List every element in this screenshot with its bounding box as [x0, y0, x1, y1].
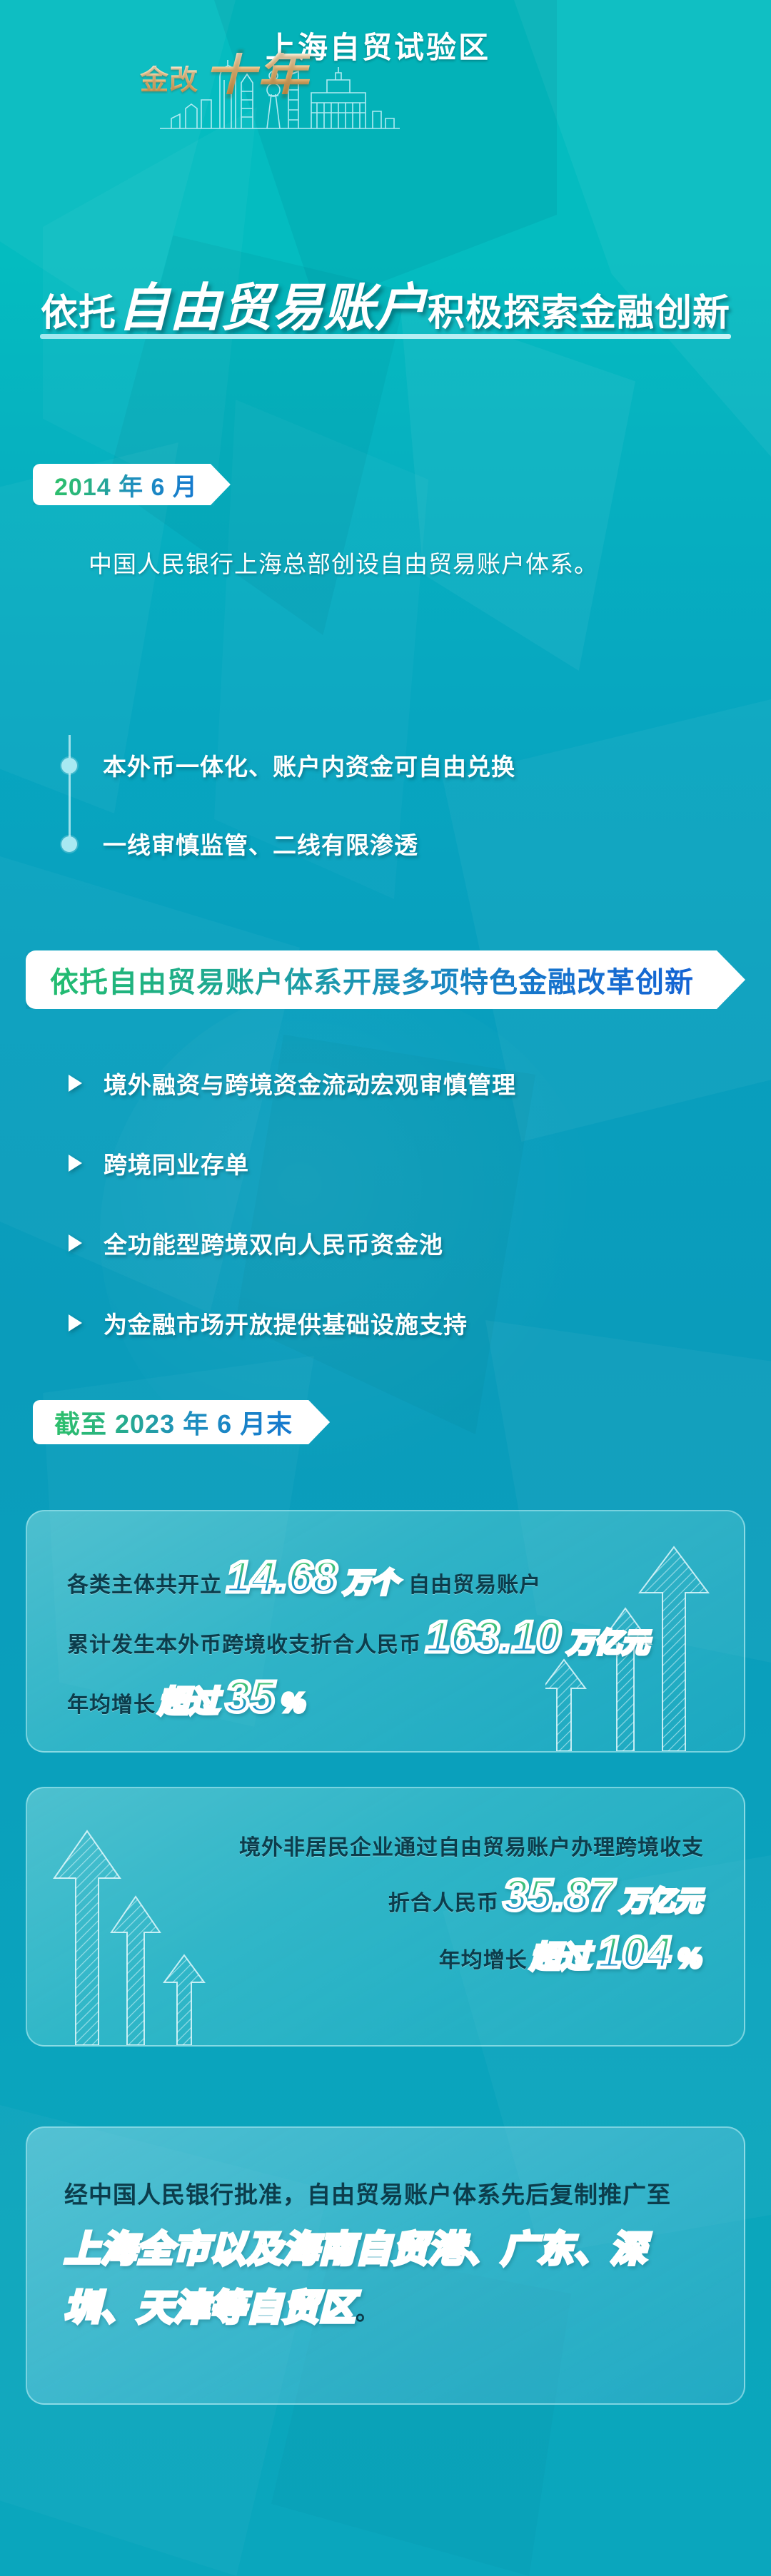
rollout-card-body: 经中国人民银行批准，自由贸易账户体系先后复制推广至上海全市以及海南自贸港、广东、…	[27, 2128, 744, 2403]
section-banner-reform: 依托自由贸易账户体系开展多项特色金融改革创新	[26, 950, 745, 1009]
triangle-bullet-icon	[69, 1314, 82, 1332]
intro-paragraph: 中国人民银行上海总部创设自由贸易账户体系。	[41, 542, 720, 587]
stat-suffix: 自由贸易账户	[408, 1567, 541, 1598]
stat-prefix: 各类主体共开立	[67, 1567, 222, 1598]
title-underline	[40, 334, 731, 339]
stat-card-nonresident: 境外非居民企业通过自由贸易账户办理跨境收支 折合人民币 35.87 万亿元 年均…	[26, 1787, 745, 2047]
rollout-text-a: 经中国人民银行批准，自由贸易账户体系先后复制推广至	[64, 2181, 671, 2208]
stat-row: 境外非居民企业通过自由贸易账户办理跨境收支	[67, 1830, 704, 1861]
logo-jingai: 金改	[140, 66, 198, 94]
stat-row: 折合人民币 35.87 万亿元	[67, 1874, 704, 1918]
list-item: 一线审慎监管、二线有限渗透	[29, 818, 742, 869]
stat-number: 14.68	[222, 1556, 341, 1600]
logo-shinian: 十年	[204, 53, 310, 94]
stat-row: 累计发生本外币跨境收支折合人民币 163.10 万亿元	[67, 1616, 704, 1660]
badge-2014: 2014 年 6 月	[33, 464, 231, 505]
triangle-bullet-icon	[69, 1155, 82, 1172]
stat-card-body: 各类主体共开立 14.68 万个 自由贸易账户 累计发生本外币跨境收支折合人民币…	[27, 1511, 744, 1751]
stat-prefix: 折合人民币	[388, 1885, 499, 1917]
list-item: 全功能型跨境双向人民币资金池	[29, 1216, 750, 1270]
stat-unit: 万亿元	[618, 1888, 704, 1915]
title-part-b: 自由贸易账户	[118, 280, 426, 337]
page-title: 依托自由贸易账户积极探索金融创新	[0, 265, 771, 340]
bullet-dot-icon	[61, 836, 77, 852]
rollout-text-b: 。	[356, 2298, 380, 2325]
stat-row: 年均增长 超过 104 %	[67, 1931, 704, 1975]
feature-dot-list: 本外币一体化、账户内资金可自由兑换 一线审慎监管、二线有限渗透	[29, 739, 742, 869]
badge-2023: 截至 2023 年 6 月末	[33, 1400, 330, 1444]
stat-number: 35	[221, 1675, 279, 1720]
section-banner-label: 依托自由贸易账户体系开展多项特色金融改革创新	[50, 959, 694, 1000]
rollout-card: 经中国人民银行批准，自由贸易账户体系先后复制推广至上海全市以及海南自贸港、广东、…	[26, 2126, 745, 2405]
title-part-a: 依托	[41, 293, 116, 334]
stat-qualifier: 超过	[156, 1687, 221, 1717]
stat-prefix: 累计发生本外币跨境收支折合人民币	[67, 1627, 421, 1658]
stat-number: 163.10	[421, 1616, 565, 1660]
stat-prefix: 年均增长	[439, 1942, 528, 1974]
list-item: 境外融资与跨境资金流动宏观审慎管理	[29, 1056, 750, 1110]
list-item: 为金融市场开放提供基础设施支持	[29, 1296, 750, 1350]
stat-qualifier: 超过	[528, 1942, 593, 1972]
stat-number: 104	[593, 1931, 675, 1975]
triangle-bullet-icon	[69, 1234, 82, 1252]
rollout-text: 经中国人民银行批准，自由贸易账户体系先后复制推广至上海全市以及海南自贸港、广东、…	[64, 2168, 707, 2339]
stat-card-body: 境外非居民企业通过自由贸易账户办理跨境收支 折合人民币 35.87 万亿元 年均…	[27, 1788, 744, 2045]
stat-prefix: 境外非居民企业通过自由贸易账户办理跨境收支	[239, 1830, 704, 1861]
header-logo: 上海自贸试验区 金改 十年	[0, 19, 771, 133]
badge-2014-label: 2014 年 6 月	[54, 467, 198, 502]
stat-number: 35.87	[499, 1874, 618, 1918]
badge-2023-label: 截至 2023 年 6 月末	[54, 1404, 293, 1441]
dot-item-label: 本外币一体化、账户内资金可自由兑换	[103, 748, 515, 782]
list-item: 本外币一体化、账户内资金可自由兑换	[29, 739, 742, 791]
reform-item-label: 全功能型跨境双向人民币资金池	[104, 1226, 443, 1260]
triangle-bullet-icon	[69, 1075, 82, 1092]
dot-item-label: 一线审慎监管、二线有限渗透	[103, 826, 418, 861]
reform-item-list: 境外融资与跨境资金流动宏观审慎管理 跨境同业存单 全功能型跨境双向人民币资金池 …	[29, 1056, 750, 1350]
logo-title-cn: 上海自贸试验区	[266, 33, 565, 63]
logo-line1: 上海自贸试验区	[266, 33, 565, 63]
stat-unit: 万亿元	[565, 1630, 651, 1657]
bullet-dot-icon	[61, 758, 77, 774]
list-item: 跨境同业存单	[29, 1136, 750, 1190]
stat-unit: %	[675, 1945, 704, 1972]
stat-card-accounts: 各类主体共开立 14.68 万个 自由贸易账户 累计发生本外币跨境收支折合人民币…	[26, 1510, 745, 1753]
reform-item-label: 跨境同业存单	[104, 1146, 249, 1180]
stat-unit: 万个	[341, 1570, 400, 1597]
reform-item-label: 境外融资与跨境资金流动宏观审慎管理	[104, 1066, 516, 1100]
stat-unit: %	[279, 1690, 308, 1717]
reform-item-label: 为金融市场开放提供基础设施支持	[104, 1306, 468, 1340]
stat-row: 各类主体共开立 14.68 万个 自由贸易账户	[67, 1556, 704, 1600]
logo-row-gold: 金改 十年	[140, 53, 310, 94]
stat-row: 年均增长 超过 35 %	[67, 1675, 704, 1720]
title-part-c: 积极探索金融创新	[428, 293, 730, 334]
stat-prefix: 年均增长	[67, 1687, 156, 1718]
